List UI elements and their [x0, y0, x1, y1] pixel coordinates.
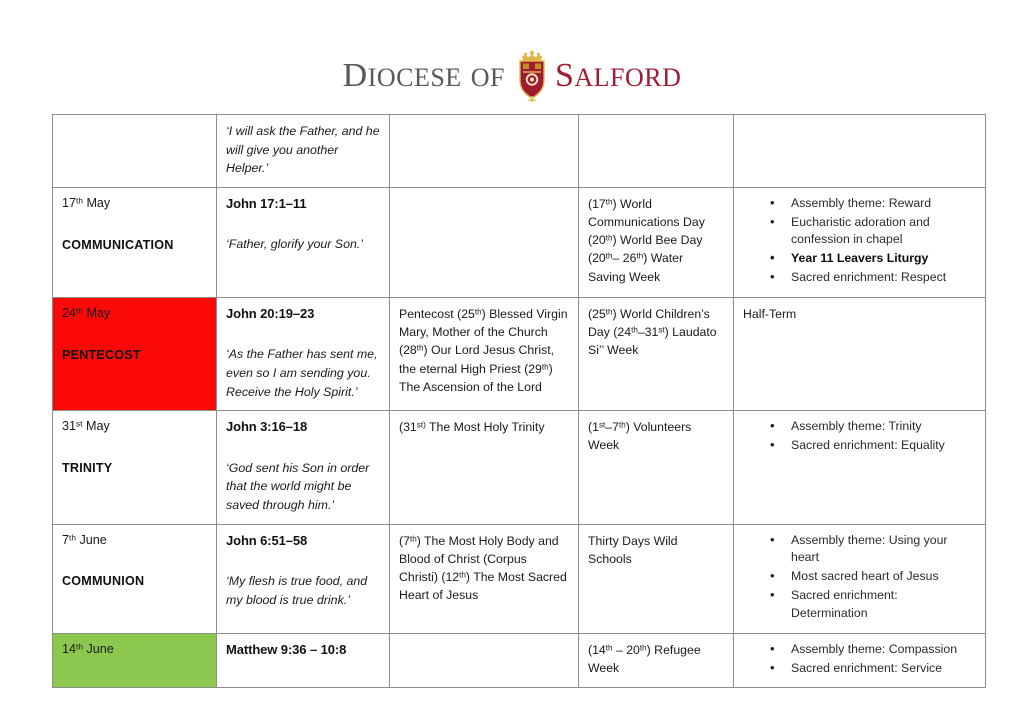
logo-text-salford: SALFORD — [549, 59, 681, 93]
feasts-text: Pentecost (25th) Blessed Virgin Mary, Mo… — [399, 305, 569, 396]
cell-school-events: Assembly theme: Reward Eucharistic adora… — [734, 187, 986, 297]
feasts-text: (7th) The Most Holy Body and Blood of Ch… — [399, 532, 569, 605]
cell-feasts: (7th) The Most Holy Body and Blood of Ch… — [390, 524, 579, 633]
awareness-text: (25th) World Children’s Day (24th–31st) … — [588, 305, 724, 360]
table-row: ‘I will ask the Father, and he will give… — [53, 115, 986, 188]
cell-scripture: John 17:1–11 ‘Father, glorify your Son.’ — [217, 187, 390, 297]
season-label: PENTECOST — [62, 347, 207, 365]
document-page: DIOCESE OF — [0, 0, 1024, 724]
cell-date: 17th May COMMUNICATION — [53, 187, 217, 297]
season-label: COMMUNICATION — [62, 237, 207, 255]
scripture-reference: John 20:19–23 — [226, 305, 380, 323]
awareness-text: Thirty Days Wild Schools — [588, 532, 724, 568]
list-item: Assembly theme: Using your heart — [770, 532, 976, 568]
school-events-list: Assembly theme: Trinity Sacred enrichmen… — [743, 418, 976, 455]
scripture-quote: ‘Father, glorify your Son.’ — [226, 235, 380, 254]
list-item: Eucharistic adoration and confession in … — [770, 214, 976, 250]
season-label: TRINITY — [62, 460, 207, 478]
list-item: Most sacred heart of Jesus — [770, 568, 976, 586]
cell-feasts: (31st) The Most Holy Trinity — [390, 411, 579, 524]
date-label: 14th June — [62, 641, 207, 659]
cell-date: 24th May PENTECOST — [53, 297, 217, 410]
liturgical-calendar-table: ‘I will ask the Father, and he will give… — [52, 114, 986, 688]
crest-icon — [515, 50, 549, 102]
cell-awareness: (1st–7th) Volunteers Week — [579, 411, 734, 524]
school-events-list: Assembly theme: Reward Eucharistic adora… — [743, 195, 976, 287]
table-row: 31st May TRINITY John 3:16–18 ‘God sent … — [53, 411, 986, 524]
school-events-list: Assembly theme: Compassion Sacred enrich… — [743, 641, 976, 678]
cell-awareness — [579, 115, 734, 188]
scripture-reference: John 6:51–58 — [226, 532, 380, 550]
cell-date: 14th June — [53, 633, 217, 688]
cell-school-events: Assembly theme: Using your heart Most sa… — [734, 524, 986, 633]
list-item: Year 11 Leavers Liturgy — [770, 250, 976, 268]
table-row: 7th June COMMUNION John 6:51–58 ‘My fles… — [53, 524, 986, 633]
cell-school-events: Assembly theme: Trinity Sacred enrichmen… — [734, 411, 986, 524]
scripture-reference: Matthew 9:36 – 10:8 — [226, 641, 380, 659]
scripture-reference: John 3:16–18 — [226, 418, 380, 436]
list-item: Assembly theme: Reward — [770, 195, 976, 213]
scripture-quote: ‘I will ask the Father, and he will give… — [226, 122, 380, 178]
scripture-reference: John 17:1–11 — [226, 195, 380, 213]
cell-feasts: Pentecost (25th) Blessed Virgin Mary, Mo… — [390, 297, 579, 410]
cell-feasts — [390, 115, 579, 188]
awareness-text: (17th) World Communications Day (20th) W… — [588, 195, 724, 286]
diocese-logo: DIOCESE OF — [343, 50, 682, 102]
cell-awareness: (17th) World Communications Day (20th) W… — [579, 187, 734, 297]
scripture-quote: ‘My flesh is true food, and my blood is … — [226, 572, 380, 609]
table-row: 14th June Matthew 9:36 – 10:8 (14th – 20… — [53, 633, 986, 688]
half-term-label: Half-Term — [743, 305, 976, 323]
date-label: 31st May — [62, 418, 207, 436]
cell-scripture: Matthew 9:36 – 10:8 — [217, 633, 390, 688]
cell-feasts — [390, 633, 579, 688]
awareness-text: (1st–7th) Volunteers Week — [588, 418, 724, 454]
scripture-quote: ‘As the Father has sent me, even so I am… — [226, 345, 380, 401]
cell-date: 7th June COMMUNION — [53, 524, 217, 633]
list-item: Assembly theme: Compassion — [770, 641, 976, 659]
cell-awareness: (14th – 20th) Refugee Week — [579, 633, 734, 688]
date-label: 17th May — [62, 195, 207, 213]
awareness-text: (14th – 20th) Refugee Week — [588, 641, 724, 677]
cell-scripture: ‘I will ask the Father, and he will give… — [217, 115, 390, 188]
scripture-quote: ‘God sent his Son in order that the worl… — [226, 459, 380, 515]
date-label: 7th June — [62, 532, 207, 550]
list-item: Sacred enrichment: Equality — [770, 437, 976, 455]
cell-date — [53, 115, 217, 188]
list-item: Assembly theme: Trinity — [770, 418, 976, 436]
cell-awareness: Thirty Days Wild Schools — [579, 524, 734, 633]
logo-text-diocese-of: DIOCESE OF — [343, 59, 515, 93]
table-row: 17th May COMMUNICATION John 17:1–11 ‘Fat… — [53, 187, 986, 297]
date-label: 24th May — [62, 305, 207, 323]
school-events-list: Assembly theme: Using your heart Most sa… — [743, 532, 976, 623]
list-item: Sacred enrichment: Service — [770, 660, 976, 678]
list-item: Sacred enrichment: Respect — [770, 269, 976, 287]
cell-awareness: (25th) World Children’s Day (24th–31st) … — [579, 297, 734, 410]
cell-school-events — [734, 115, 986, 188]
cell-scripture: John 20:19–23 ‘As the Father has sent me… — [217, 297, 390, 410]
list-item: Sacred enrichment: Determination — [770, 587, 976, 623]
cell-school-events: Half-Term — [734, 297, 986, 410]
cell-scripture: John 6:51–58 ‘My flesh is true food, and… — [217, 524, 390, 633]
cell-school-events: Assembly theme: Compassion Sacred enrich… — [734, 633, 986, 688]
feasts-text: (31st) The Most Holy Trinity — [399, 418, 569, 436]
cell-feasts — [390, 187, 579, 297]
table-row: 24th May PENTECOST John 20:19–23 ‘As the… — [53, 297, 986, 410]
cell-date: 31st May TRINITY — [53, 411, 217, 524]
page-header: DIOCESE OF — [0, 48, 1024, 104]
season-label: COMMUNION — [62, 573, 207, 591]
cell-scripture: John 3:16–18 ‘God sent his Son in order … — [217, 411, 390, 524]
